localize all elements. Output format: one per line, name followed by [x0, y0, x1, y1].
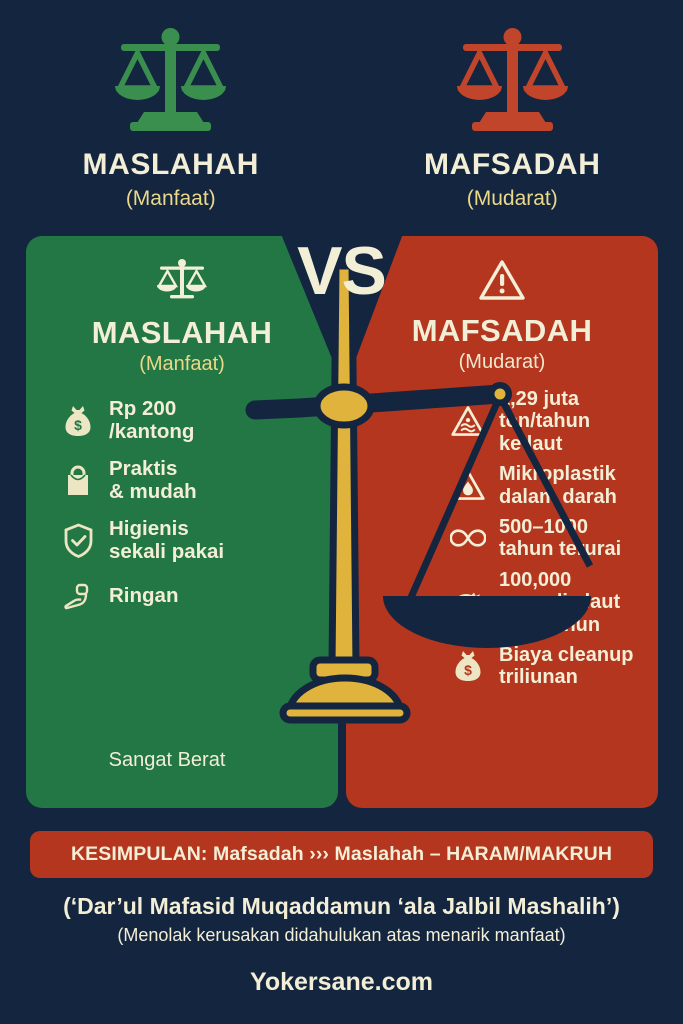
brand-watermark: Yokersane.com: [0, 968, 683, 997]
panel-maslahah-content: MASLAHAH (Manfaat) $ Rp 200 /kantong: [26, 236, 338, 808]
panel-title-maslahah: MASLAHAH: [26, 315, 338, 351]
panel-mafsadah: MAFSADAH (Mudarat) 1,29: [346, 236, 658, 808]
header-column-maslahah: MASLAHAH (Manfaat): [0, 0, 342, 232]
balance-scale-icon: [108, 26, 233, 134]
svg-text:$: $: [464, 662, 472, 678]
list-item: $ Biaya cleanup triliunan: [450, 644, 658, 689]
list-item-label: 1,29 juta ton/tahun ke laut: [499, 388, 590, 455]
dead-fish-icon: [450, 583, 486, 621]
svg-text:$: $: [74, 417, 82, 433]
list-item-label: Ringan: [109, 585, 178, 608]
list-item-label: Mikroplastik dalam darah: [499, 463, 617, 508]
list-item-label: 500–1000 tahun terurai: [499, 516, 621, 561]
benefit-list: $ Rp 200 /kantong: [26, 398, 338, 616]
panel-mafsadah-content: MAFSADAH (Mudarat) 1,29: [346, 236, 658, 808]
feather-light-icon: [60, 578, 96, 616]
list-item: 1,29 juta ton/tahun ke laut: [450, 388, 658, 455]
list-item-label: Higienis sekali pakai: [109, 518, 224, 564]
infographic-poster: MASLAHAH (Manfaat) MAFSADAH (Mudarat): [0, 0, 683, 1024]
header-subtitle-mafsadah: (Mudarat): [467, 187, 558, 211]
money-bag-icon: $: [450, 647, 486, 685]
list-item-label: Praktis & mudah: [109, 458, 197, 504]
arabic-maxim-transliteration: (‘Dar’ul Mafasid Muqaddamun ‘ala Jalbil …: [0, 893, 683, 920]
panel-subtitle-mafsadah: (Mudarat): [346, 351, 658, 374]
money-bag-icon: $: [60, 402, 96, 440]
infinity-icon: [450, 519, 486, 557]
panel-title-mafsadah: MAFSADAH: [346, 313, 658, 349]
list-item: Ringan: [60, 578, 338, 616]
panel-maslahah-footnote: Sangat Berat: [26, 749, 338, 772]
arabic-maxim-translation: (Menolak kerusakan didahulukan atas mena…: [0, 925, 683, 946]
panel-mafsadah-header: MAFSADAH (Mudarat): [346, 236, 658, 374]
conclusion-banner: KESIMPULAN: Mafsadah ››› Maslahah – HARA…: [30, 831, 653, 878]
balance-scale-icon: [450, 26, 575, 134]
harm-list: 1,29 juta ton/tahun ke laut Mikroplastik…: [346, 388, 658, 689]
header: MASLAHAH (Manfaat) MAFSADAH (Mudarat): [0, 0, 683, 232]
list-item: 500–1000 tahun terurai: [450, 516, 658, 561]
header-column-mafsadah: MAFSADAH (Mudarat): [342, 0, 683, 232]
list-item-label: Biaya cleanup triliunan: [499, 644, 634, 689]
shopping-bag-icon: [60, 462, 96, 500]
comparison-panels: MASLAHAH (Manfaat) $ Rp 200 /kantong: [0, 236, 683, 816]
list-item: $ Rp 200 /kantong: [60, 398, 338, 444]
warning-triangle-icon: [478, 258, 526, 307]
header-title-mafsadah: MAFSADAH: [424, 148, 600, 182]
panel-maslahah: MASLAHAH (Manfaat) $ Rp 200 /kantong: [26, 236, 338, 808]
panel-subtitle-maslahah: (Manfaat): [26, 353, 338, 376]
list-item: Praktis & mudah: [60, 458, 338, 504]
list-item: 100,000 mamalia laut mati/tahun: [450, 569, 658, 636]
list-item: Mikroplastik dalam darah: [450, 463, 658, 508]
balance-scale-icon: [156, 258, 208, 309]
panel-maslahah-header: MASLAHAH (Manfaat): [26, 236, 338, 376]
shield-check-icon: [60, 522, 96, 560]
header-title-maslahah: MASLAHAH: [83, 148, 259, 182]
list-item-label: Rp 200 /kantong: [109, 398, 194, 444]
droplet-warning-icon: [450, 467, 486, 505]
list-item-label: 100,000 mamalia laut mati/tahun: [499, 569, 620, 636]
header-subtitle-maslahah: (Manfaat): [126, 187, 216, 211]
drowning-warning-icon: [450, 403, 486, 441]
list-item: Higienis sekali pakai: [60, 518, 338, 564]
conclusion-text: KESIMPULAN: Mafsadah ››› Maslahah – HARA…: [71, 843, 612, 866]
